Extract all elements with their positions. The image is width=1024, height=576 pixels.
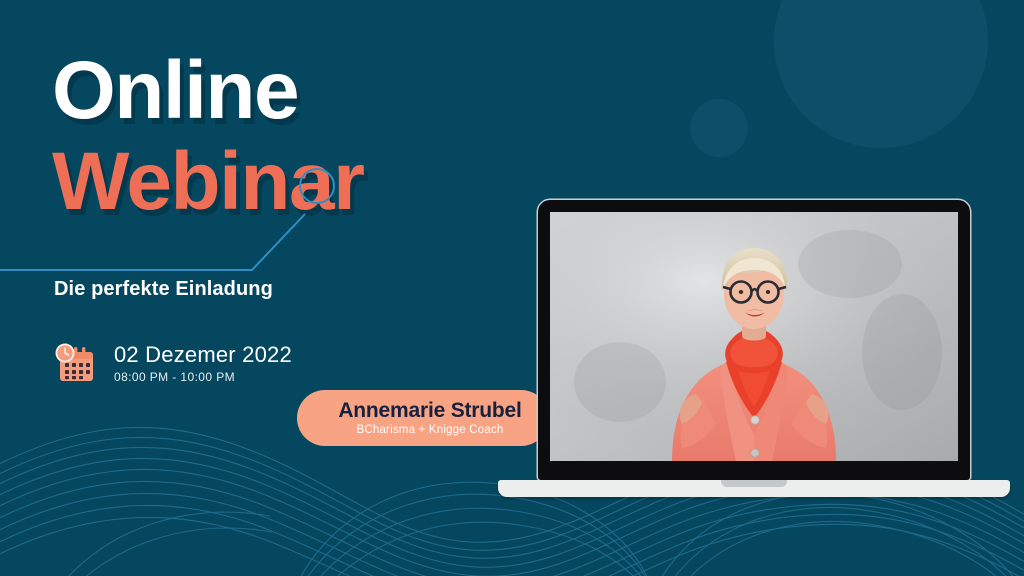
event-time: 08:00 PM - 10:00 PM — [114, 370, 292, 384]
event-date-row: 02 Dezemer 2022 08:00 PM - 10:00 PM — [52, 340, 292, 386]
background-circle-large — [774, 0, 988, 148]
subtitle: Die perfekte Einladung — [54, 278, 273, 301]
circle-outline-marker — [300, 169, 334, 203]
laptop-screen — [550, 212, 958, 461]
speaker-video-still — [550, 212, 958, 461]
speaker-role: BCharisma + Knigge Coach — [356, 424, 503, 436]
headline-line-online: Online — [52, 52, 364, 131]
connector-line — [0, 160, 520, 280]
laptop-mockup — [498, 200, 1010, 505]
speaker-name: Annemarie Strubel — [338, 400, 521, 422]
calendar-clock-icon — [52, 340, 98, 386]
event-date: 02 Dezemer 2022 — [114, 342, 292, 367]
background-circle-small — [690, 99, 748, 157]
laptop-notch — [721, 480, 787, 487]
laptop-lid — [538, 200, 970, 480]
webinar-banner: Online Webinar Die perfekte Einladung — [0, 0, 1024, 576]
